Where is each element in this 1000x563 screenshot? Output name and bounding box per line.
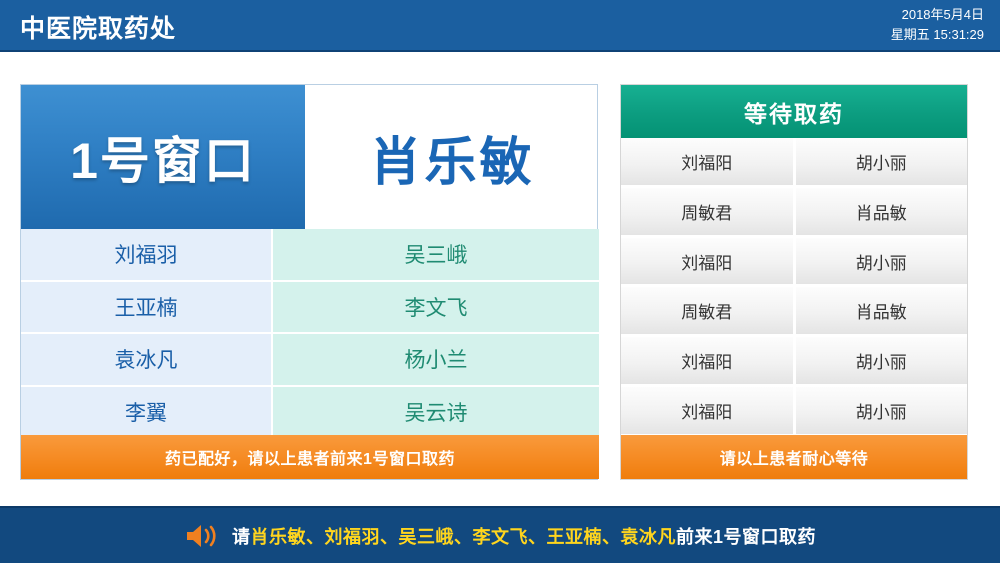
list-item: 刘福阳 bbox=[621, 238, 793, 285]
page-title: 中医院取药处 bbox=[20, 9, 176, 45]
list-item: 胡小丽 bbox=[793, 238, 968, 285]
speaker-icon bbox=[184, 523, 218, 549]
ticker-suffix: 前来1号窗口取药 bbox=[676, 527, 816, 547]
list-item: 刘福阳 bbox=[621, 387, 793, 434]
ticker-prefix: 请 bbox=[232, 527, 251, 547]
window-label: 1号窗口 bbox=[70, 121, 256, 193]
list-item: 肖品敏 bbox=[793, 287, 968, 334]
table-row: 周敏君 肖品敏 bbox=[621, 287, 967, 337]
serving-banner: 药已配好，请以上患者前来1号窗口取药 bbox=[21, 435, 599, 479]
list-item: 周敏君 bbox=[621, 188, 793, 235]
serving-header: 1号窗口 肖乐敏 bbox=[21, 85, 597, 229]
current-date: 2018年5月4日 bbox=[891, 5, 984, 25]
waiting-banner: 请以上患者耐心等待 bbox=[621, 435, 967, 479]
serving-column-left: 刘福羽 王亚楠 袁冰凡 李翼 bbox=[21, 229, 271, 437]
waiting-list: 刘福阳 胡小丽 周敏君 肖品敏 刘福阳 胡小丽 周敏君 肖品敏 刘福阳 胡小丽 … bbox=[621, 138, 967, 434]
list-item: 李翼 bbox=[21, 387, 271, 438]
table-row: 刘福阳 胡小丽 bbox=[621, 238, 967, 288]
list-item: 胡小丽 bbox=[793, 337, 968, 384]
list-item: 李文飞 bbox=[271, 282, 599, 335]
ticker-names: 肖乐敏、刘福羽、吴三峨、李文飞、王亚楠、袁冰凡 bbox=[250, 527, 676, 547]
list-item: 杨小兰 bbox=[271, 334, 599, 387]
list-item: 吴云诗 bbox=[271, 387, 599, 438]
list-item: 吴三峨 bbox=[271, 229, 599, 282]
list-item: 周敏君 bbox=[621, 287, 793, 334]
datetime-display: 2018年5月4日 星期五 15:31:29 bbox=[891, 5, 984, 45]
table-row: 刘福阳 胡小丽 bbox=[621, 337, 967, 387]
window-number-box: 1号窗口 bbox=[21, 85, 305, 229]
list-item: 王亚楠 bbox=[21, 282, 271, 335]
current-time: 星期五 15:31:29 bbox=[891, 25, 984, 45]
list-item: 刘福阳 bbox=[621, 138, 793, 185]
list-item: 刘福阳 bbox=[621, 337, 793, 384]
list-item: 刘福羽 bbox=[21, 229, 271, 282]
table-row: 刘福阳 胡小丽 bbox=[621, 387, 967, 434]
serving-name-grid: 刘福羽 王亚楠 袁冰凡 李翼 吴三峨 李文飞 杨小兰 吴云诗 bbox=[21, 229, 599, 437]
ticker-message: 请肖乐敏、刘福羽、吴三峨、李文飞、王亚楠、袁冰凡前来1号窗口取药 bbox=[232, 523, 816, 549]
app-header: 中医院取药处 2018年5月4日 星期五 15:31:29 bbox=[0, 0, 1000, 52]
table-row: 刘福阳 胡小丽 bbox=[621, 138, 967, 188]
list-item: 胡小丽 bbox=[793, 138, 968, 185]
serving-panel: 1号窗口 肖乐敏 刘福羽 王亚楠 袁冰凡 李翼 吴三峨 李文飞 杨小兰 吴云诗 … bbox=[20, 84, 598, 480]
pharmacy-queue-display: 中医院取药处 2018年5月4日 星期五 15:31:29 1号窗口 肖乐敏 刘… bbox=[0, 0, 1000, 563]
list-item: 胡小丽 bbox=[793, 387, 968, 434]
serving-column-right: 吴三峨 李文飞 杨小兰 吴云诗 bbox=[271, 229, 599, 437]
waiting-panel-title: 等待取药 bbox=[621, 85, 967, 138]
announcement-ticker: 请肖乐敏、刘福羽、吴三峨、李文飞、王亚楠、袁冰凡前来1号窗口取药 bbox=[0, 506, 1000, 563]
current-patient-name: 肖乐敏 bbox=[305, 85, 599, 229]
waiting-panel: 等待取药 刘福阳 胡小丽 周敏君 肖品敏 刘福阳 胡小丽 周敏君 肖品敏 刘福阳… bbox=[620, 84, 968, 480]
table-row: 周敏君 肖品敏 bbox=[621, 188, 967, 238]
list-item: 肖品敏 bbox=[793, 188, 968, 235]
list-item: 袁冰凡 bbox=[21, 334, 271, 387]
